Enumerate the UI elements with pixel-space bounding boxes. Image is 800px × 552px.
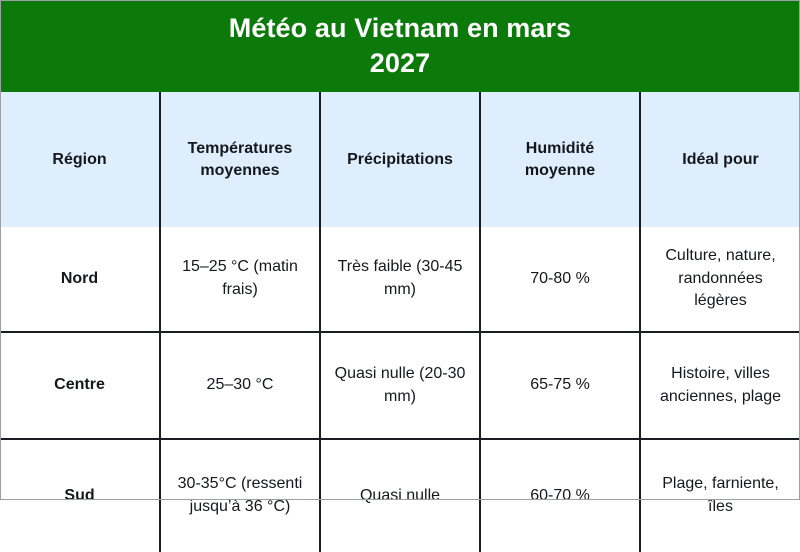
column-header-humidite: Humidité moyenne — [480, 92, 640, 227]
table-row: Centre 25–30 °C Quasi nulle (20-30 mm) 6… — [0, 332, 800, 439]
cell-humidite-sud: 60-70 % — [480, 439, 640, 552]
table-row: Nord 15–25 °C (matin frais) Très faible … — [0, 227, 800, 332]
title-row: Météo au Vietnam en mars 2027 — [0, 0, 800, 92]
table-row: Sud 30-35°C (ressenti jusqu’à 36 °C) Qua… — [0, 439, 800, 552]
cell-temperatures-sud: 30-35°C (ressenti jusqu’à 36 °C) — [160, 439, 320, 552]
cell-ideal-sud: Plage, farniente, îles — [640, 439, 800, 552]
cell-ideal-nord: Culture, nature, randonnées légères — [640, 227, 800, 332]
cell-region-nord: Nord — [0, 227, 160, 332]
page-title: Météo au Vietnam en mars 2027 — [0, 0, 800, 92]
cell-ideal-centre: Histoire, villes anciennes, plage — [640, 332, 800, 439]
weather-table: Météo au Vietnam en mars 2027 Région Tem… — [0, 0, 800, 552]
cell-temperatures-nord: 15–25 °C (matin frais) — [160, 227, 320, 332]
title-line-2: 2027 — [12, 46, 788, 81]
cell-precipitations-centre: Quasi nulle (20-30 mm) — [320, 332, 480, 439]
title-line-1: Météo au Vietnam en mars — [12, 11, 788, 46]
column-header-ideal-pour: Idéal pour — [640, 92, 800, 227]
cell-humidite-centre: 65-75 % — [480, 332, 640, 439]
column-header-precipitations: Précipitations — [320, 92, 480, 227]
cell-precipitations-sud: Quasi nulle — [320, 439, 480, 552]
table-header-row: Région Températures moyennes Précipitati… — [0, 92, 800, 227]
column-header-temperatures: Températures moyennes — [160, 92, 320, 227]
cell-region-centre: Centre — [0, 332, 160, 439]
column-header-region: Région — [0, 92, 160, 227]
cell-region-sud: Sud — [0, 439, 160, 552]
cell-temperatures-centre: 25–30 °C — [160, 332, 320, 439]
cell-humidite-nord: 70-80 % — [480, 227, 640, 332]
cell-precipitations-nord: Très faible (30-45 mm) — [320, 227, 480, 332]
